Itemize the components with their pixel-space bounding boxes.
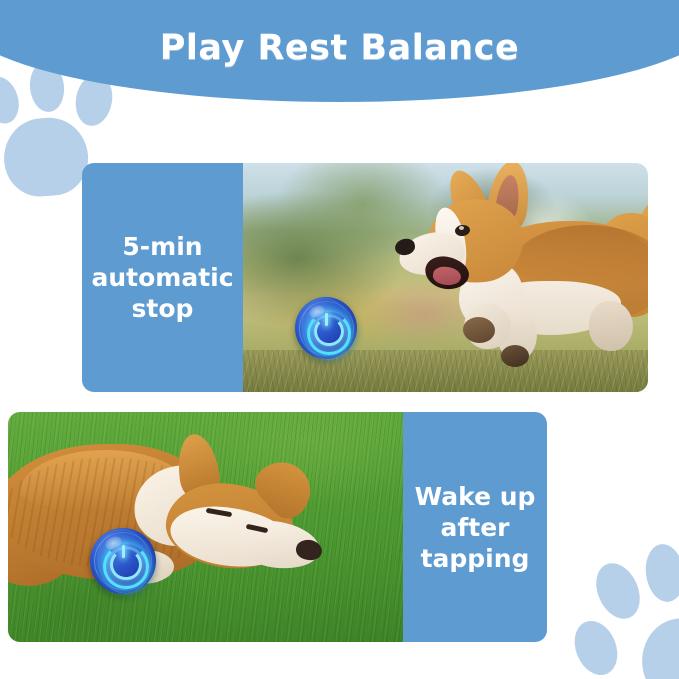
feature-card-wake-up: Wake up after tapping bbox=[8, 412, 547, 642]
paw-print-bottom-right-icon bbox=[570, 540, 679, 679]
power-symbol-stem bbox=[325, 313, 328, 325]
paw-toe bbox=[567, 615, 625, 679]
photo-sleeping-corgi bbox=[8, 412, 403, 642]
feature-card-auto-stop: 5-min automatic stop bbox=[82, 163, 648, 392]
glowing-ball-toy bbox=[90, 528, 156, 594]
power-symbol-icon bbox=[314, 317, 344, 347]
dog-eye-glint bbox=[459, 226, 464, 230]
power-symbol-icon bbox=[110, 549, 141, 580]
photo-running-corgi bbox=[243, 163, 648, 392]
feature-label-auto-stop: 5-min automatic stop bbox=[82, 163, 243, 392]
power-symbol-stem bbox=[122, 545, 125, 558]
paw-pad bbox=[1, 115, 90, 199]
page-title: Play Rest Balance bbox=[0, 28, 679, 68]
sleeping-corgi-illustration bbox=[8, 430, 354, 620]
paw-toe bbox=[588, 556, 648, 625]
dog-front-paw-right bbox=[501, 345, 529, 367]
paw-toe bbox=[642, 542, 679, 605]
running-corgi-illustration bbox=[393, 177, 648, 377]
glowing-ball-toy bbox=[295, 297, 357, 359]
dog-front-paw-left bbox=[463, 317, 495, 343]
paw-toe bbox=[0, 72, 25, 128]
paw-pad bbox=[638, 614, 679, 679]
product-feature-infographic: Play Rest Balance 5-min automatic stop bbox=[0, 0, 679, 679]
feature-label-wake-up: Wake up after tapping bbox=[403, 412, 547, 642]
